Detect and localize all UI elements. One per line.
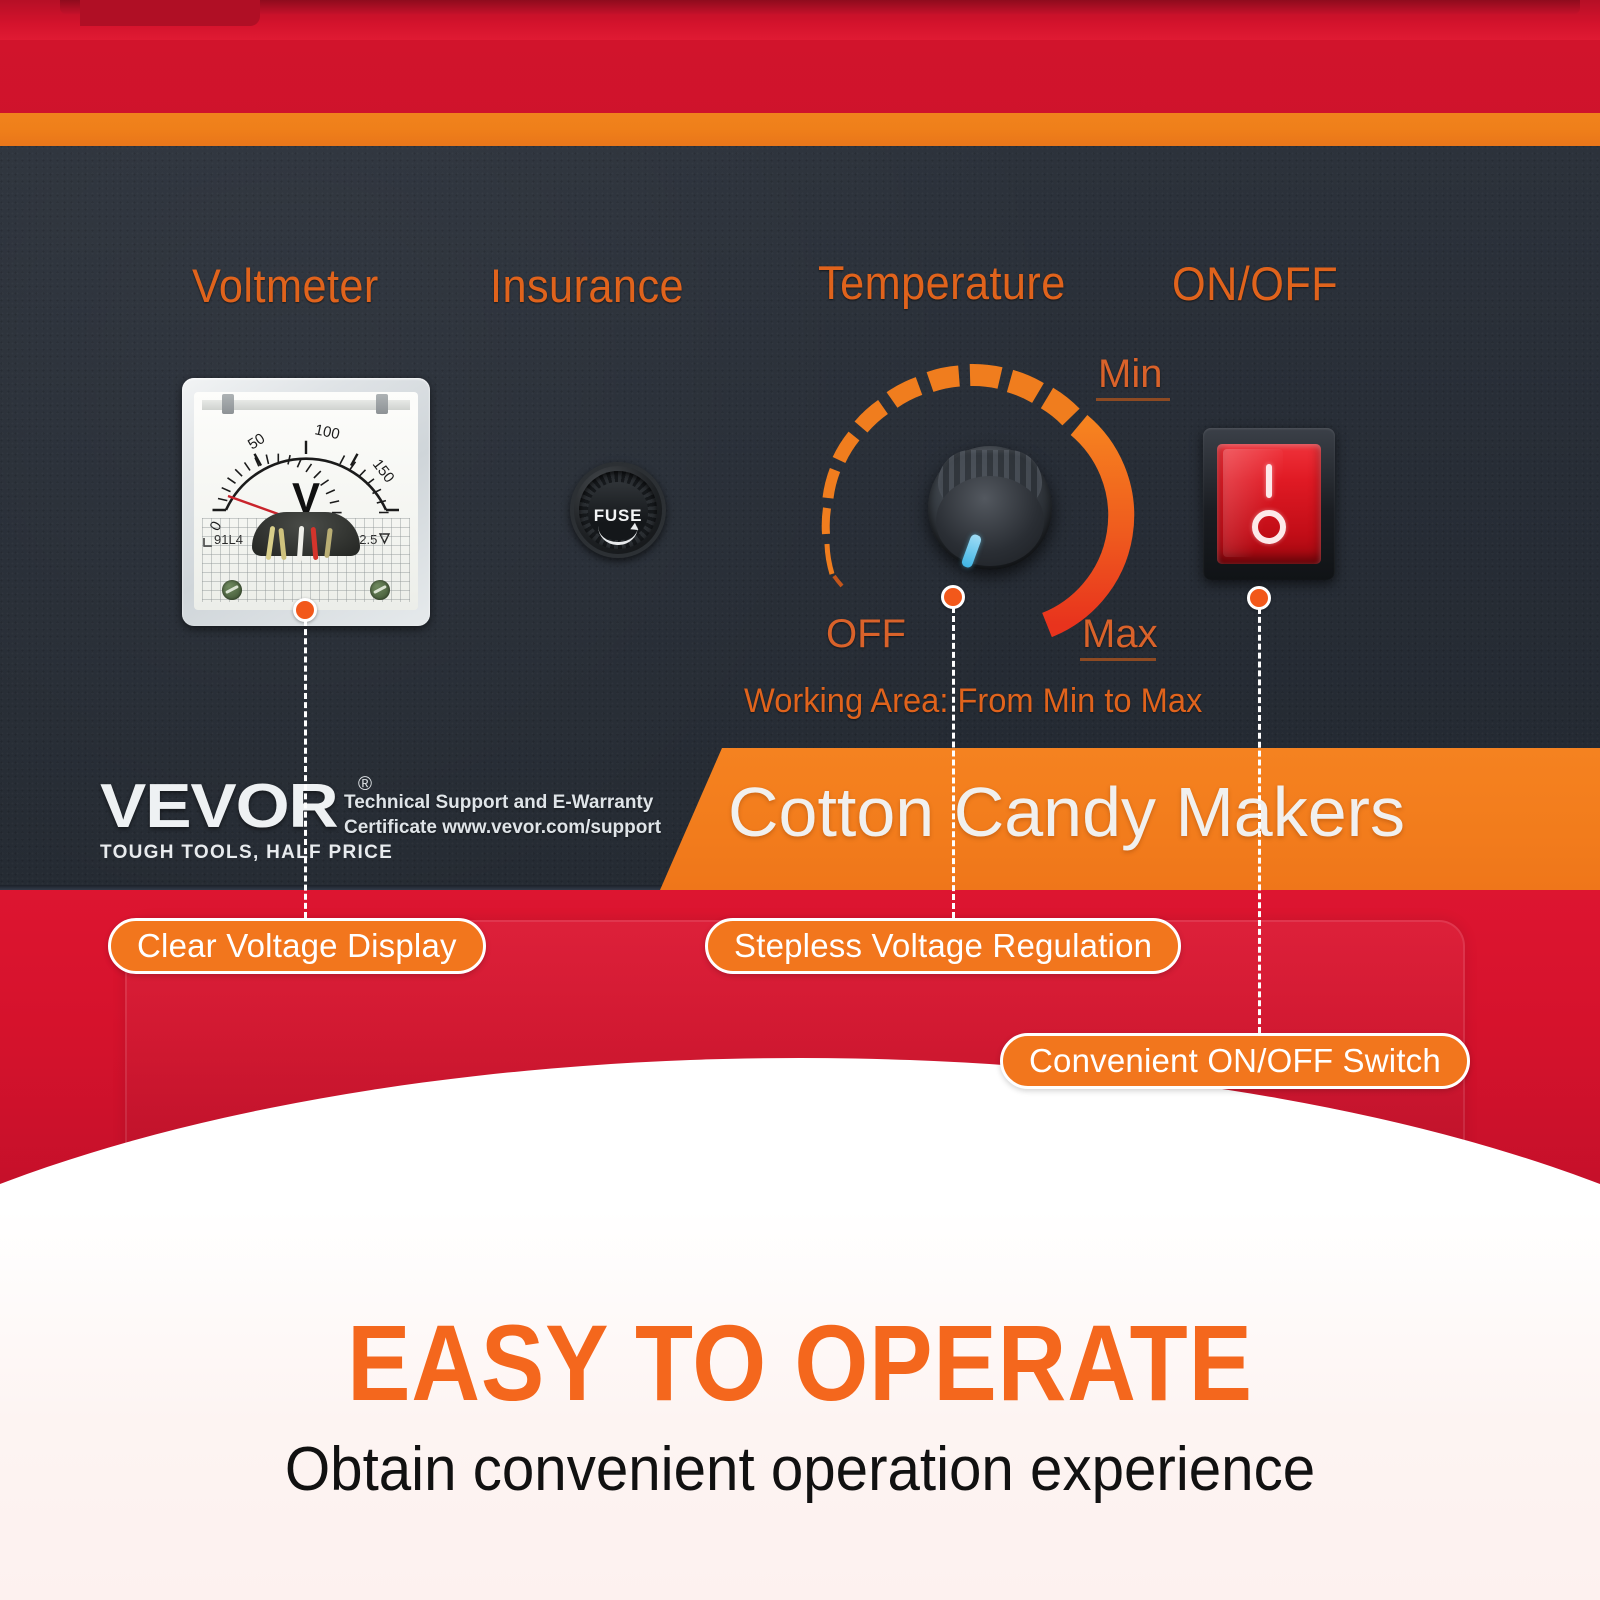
- callout-pill-knob[interactable]: Stepless Voltage Regulation: [705, 918, 1181, 974]
- orange-accent-stripe: [0, 113, 1600, 146]
- power-switch-bezel: [1203, 428, 1335, 580]
- brand-name: VEVOR: [100, 778, 338, 835]
- voltmeter-gauge: 0 50 100 150 V 91L4 ~Ω2.5: [182, 378, 430, 626]
- fuse-holder[interactable]: FUSE: [570, 462, 666, 558]
- callout-marker-voltmeter: [293, 598, 317, 622]
- voltmeter-face: 0 50 100 150 V 91L4 ~Ω2.5: [194, 392, 418, 610]
- temperature-knob[interactable]: [928, 446, 1052, 570]
- power-off-icon: [1252, 510, 1286, 544]
- callout-leader-knob: [952, 607, 955, 918]
- dial-min-underline: [1096, 398, 1170, 401]
- brand-tagline: TOUGH TOOLS, HALF PRICE: [100, 842, 393, 864]
- callout-marker-switch: [1247, 586, 1271, 610]
- footer-headline: EASY TO OPERATE: [96, 1300, 1504, 1425]
- footer-subline: Obtain convenient operation experience: [48, 1434, 1552, 1505]
- callout-pill-switch[interactable]: Convenient ON/OFF Switch: [1000, 1033, 1470, 1089]
- callout-marker-knob: [941, 585, 965, 609]
- callout-label-voltmeter: Clear Voltage Display: [137, 927, 457, 965]
- product-feature-image: Voltmeter Insurance Temperature ON/OFF: [0, 0, 1600, 1600]
- svg-text:50: 50: [245, 430, 268, 453]
- lid-seam: [60, 0, 1580, 14]
- voltmeter-screw-left: [222, 580, 242, 600]
- dial-label-min: Min: [1098, 352, 1162, 397]
- support-text: Technical Support and E-Warranty Certifi…: [344, 790, 661, 840]
- label-temperature: Temperature: [818, 255, 1066, 310]
- label-onoff: ON/OFF: [1172, 256, 1338, 311]
- callout-leader-switch: [1258, 608, 1261, 1033]
- voltmeter-coil: [264, 526, 348, 566]
- callout-pill-voltmeter[interactable]: Clear Voltage Display: [108, 918, 486, 974]
- power-on-icon: [1266, 464, 1272, 498]
- voltmeter-screw-right: [370, 580, 390, 600]
- label-insurance: Insurance: [490, 258, 684, 313]
- support-line-2: Certificate www.vevor.com/support: [344, 815, 661, 840]
- callout-label-switch: Convenient ON/OFF Switch: [1029, 1042, 1441, 1080]
- dial-label-off: OFF: [826, 612, 906, 657]
- product-title: Cotton Candy Makers: [728, 772, 1405, 852]
- power-rocker-switch[interactable]: [1217, 444, 1321, 564]
- lid-notch: [80, 0, 260, 26]
- fuse-label: FUSE: [570, 506, 666, 526]
- working-area-note: Working Area: From Min to Max: [744, 682, 1202, 721]
- callout-leader-voltmeter: [304, 620, 307, 918]
- knob-face: [936, 476, 1044, 566]
- label-voltmeter: Voltmeter: [192, 258, 379, 313]
- callout-label-knob: Stepless Voltage Regulation: [734, 927, 1152, 965]
- svg-text:150: 150: [369, 456, 398, 486]
- svg-text:100: 100: [313, 421, 341, 443]
- dial-label-max: Max: [1082, 612, 1158, 657]
- temperature-dial[interactable]: Min Max OFF: [788, 336, 1208, 676]
- support-line-1: Technical Support and E-Warranty: [344, 790, 661, 815]
- dial-max-underline: [1080, 658, 1156, 661]
